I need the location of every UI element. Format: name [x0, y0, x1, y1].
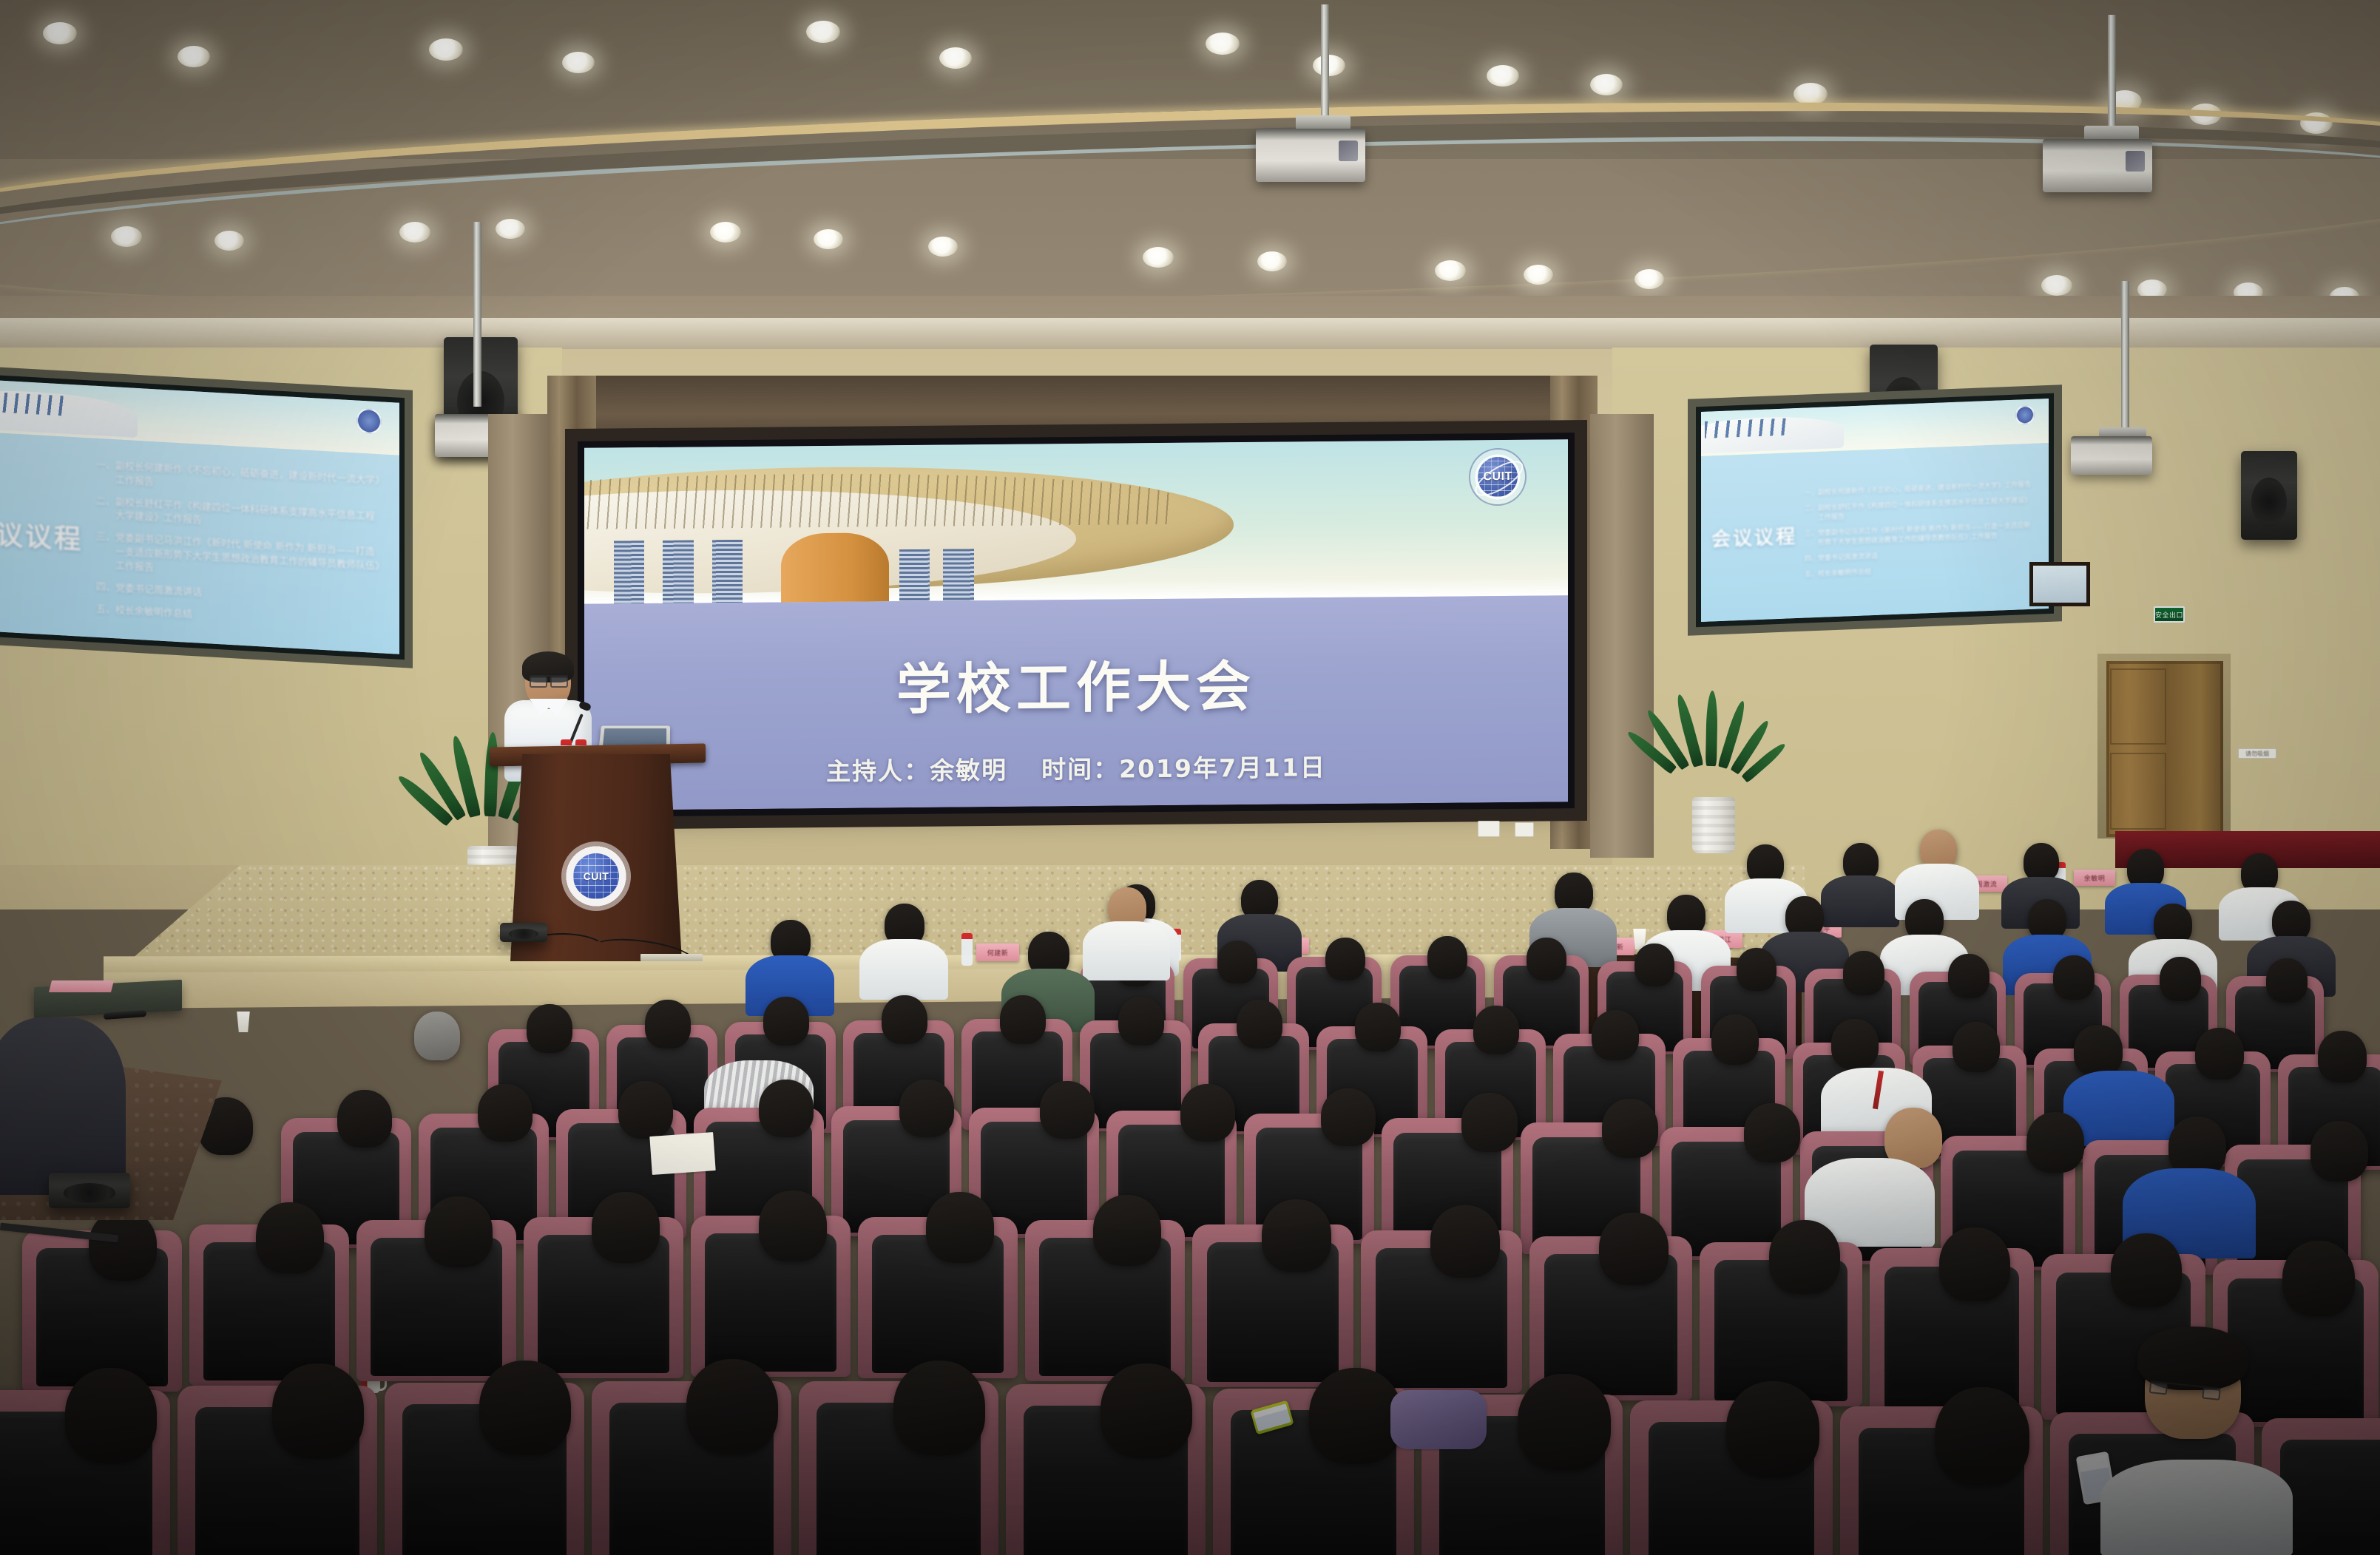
audience-head: [1843, 951, 1884, 995]
slide-date-label: 时间：2019年7月11日: [1041, 748, 1326, 785]
audience-head: [1769, 1220, 1840, 1294]
slide-building-cylinder: [781, 532, 889, 603]
wall-notice-plate: 请勿吸烟: [2238, 748, 2276, 759]
side-screen-left: 会议议程 一、 副校长何建新作《不忘初心，砥砺奋进，建设新时代一流大学》工作报告…: [0, 378, 399, 654]
floor-power-strip: [640, 954, 703, 961]
audience-head: [759, 1080, 814, 1137]
slide-building-window: [943, 549, 973, 600]
ceiling-downlight: [111, 226, 142, 247]
audience-head: [1948, 954, 1989, 998]
agenda-item-text: 副校长何建新作《不忘初心，砥砺奋进，建设新时代一流大学》工作报告: [1818, 481, 2034, 498]
agenda-item-number: 三、: [96, 531, 115, 574]
audience-head: [272, 1363, 364, 1458]
audience-head: [1309, 1368, 1402, 1464]
audience-head: [1592, 1010, 1639, 1060]
audience-head: [2024, 843, 2059, 881]
agenda-item-number: 二、: [96, 495, 115, 524]
agenda-item-number: 二、: [1805, 504, 1818, 524]
table-paper-card: [49, 980, 114, 992]
name-card-text: 何建新: [987, 948, 1009, 958]
ceiling-downlight: [928, 237, 958, 257]
audience-head: [1237, 1000, 1282, 1048]
audience-head: [1711, 1014, 1759, 1065]
cuit-logo-icon: CUIT: [1469, 447, 1527, 506]
audience-head: [414, 1012, 460, 1060]
projector-bracket: [2084, 126, 2139, 140]
audience-head: [1040, 1081, 1095, 1139]
ceiling-downlight: [1524, 265, 1553, 285]
ceiling-downlight: [806, 21, 840, 43]
audience-head: [1518, 1374, 1611, 1470]
name-card-text: 余敏明: [2084, 873, 2106, 883]
ceiling-downlight: [939, 47, 972, 69]
audience-head: [1180, 1084, 1235, 1142]
audience-head: [2310, 1121, 2368, 1182]
cuit-logo-icon: [356, 408, 382, 435]
audience-shoulders: [859, 939, 948, 1000]
ceiling-downlight: [1313, 55, 1345, 76]
wall-framed-picture: [2029, 562, 2090, 606]
audience-head: [686, 1359, 778, 1454]
audience-head: [1461, 1093, 1518, 1152]
wall-trim-band: [0, 318, 2380, 349]
agenda-item-text: 副校长舒红平作《构建四位一体科研体系支撑高水平信息工程大学建设》工作报告: [115, 496, 380, 539]
ceiling-downlight: [710, 222, 741, 243]
projector-mount-pole: [2121, 281, 2129, 429]
projector-lens: [1339, 140, 1358, 161]
ceiling-downlight: [43, 22, 77, 44]
audience-head: [1831, 1019, 1879, 1069]
side-slide-body: 会议议程 一、 副校长何建新作《不忘初心，砥砺奋进，建设新时代一流大学》工作报告…: [0, 431, 399, 654]
cuit-logo-icon: CUIT: [561, 841, 631, 911]
audience-head: [1093, 1195, 1161, 1266]
main-projection-screen: CUIT 学校工作大会 主持人：余敏明 时间：2019年7月11日: [584, 439, 1568, 810]
ceiling-downlight: [2041, 275, 2072, 296]
plant-pot-right: [1692, 797, 1735, 853]
slide-body: 学校工作大会 主持人：余敏明 时间：2019年7月11日: [584, 595, 1568, 810]
agenda-item: 四、 党委书记周激流讲话: [1805, 546, 2034, 565]
ceiling-downlight: [399, 222, 430, 243]
globe-icon: CUIT: [573, 853, 619, 899]
ceiling-downlight: [562, 52, 595, 73]
name-card-text: 周激流: [1976, 879, 1998, 889]
cuit-logo-icon: [2015, 405, 2035, 425]
agenda-item-text: 副校长何建新作《不忘初心，砥砺奋进，建设新时代一流大学》工作报告: [115, 460, 380, 503]
projector-bracket: [1296, 115, 1350, 130]
audience-head: [1321, 1088, 1376, 1146]
audience-head: [89, 1210, 157, 1281]
agenda-heading: 会议议程: [0, 511, 96, 558]
agenda-list: 一、 副校长何建新作《不忘初心，砥砺奋进，建设新时代一流大学》工作报告 二、 副…: [1805, 480, 2049, 580]
paper-cup: [235, 1012, 251, 1032]
wall-socket-plate: [1478, 821, 1500, 837]
slide-building-window: [899, 549, 930, 601]
ceiling-projector: [2071, 436, 2152, 475]
audience-head: [1527, 938, 1566, 980]
agenda-item-number: 一、: [1805, 489, 1818, 499]
auditorium-photo: 会议议程 一、 副校长何建新作《不忘初心，砥砺奋进，建设新时代一流大学》工作报告…: [0, 0, 2380, 1555]
slide-header-band: CUIT: [584, 439, 1568, 603]
audience-head: [1101, 1363, 1192, 1458]
ceiling-downlight: [1487, 65, 1519, 87]
audience-head: [893, 1361, 985, 1455]
audience-head: [592, 1192, 660, 1263]
slide-building-window: [614, 541, 644, 604]
agenda-item-text: 副校长舒红平作《构建四位一体科研体系支撑高水平信息工程大学建设》工作报告: [1818, 496, 2034, 524]
wall-notice-text: 请勿吸烟: [2245, 750, 2269, 758]
agenda-item-text: 校长余敏明作总结: [1818, 562, 2034, 580]
audience-head: [2111, 1233, 2182, 1307]
audience-head: [1430, 1205, 1500, 1278]
audience-head: [479, 1361, 571, 1455]
video-camera: [49, 1173, 130, 1208]
ceiling-downlight: [214, 231, 244, 251]
audience-head: [1953, 1022, 2000, 1072]
audience-head: [337, 1090, 392, 1148]
audience-head: [1744, 1103, 1800, 1162]
audience-head: [1737, 948, 1776, 991]
ceiling-downlight: [1794, 83, 1828, 105]
audience-head: [1939, 1227, 2010, 1301]
audience-head: [645, 1000, 691, 1048]
agenda-item: 三、 党委副书记马洪江作《新时代 新使命 新作为 新担当——打造一支适应新形势下…: [1805, 521, 2034, 549]
audience-head: [2053, 955, 2095, 1000]
slide-building-window: [712, 540, 743, 603]
audience-head: [1634, 943, 1674, 986]
ceiling-downlight: [814, 229, 843, 249]
slide-host-label: 主持人：余敏明: [826, 750, 1007, 787]
audience-head: [1262, 1199, 1331, 1272]
agenda-item: 一、 副校长何建新作《不忘初心，砥砺奋进，建设新时代一流大学》工作报告: [1805, 481, 2034, 499]
audience-head: [256, 1202, 324, 1273]
audience-head: [882, 995, 927, 1044]
audience-head: [1935, 1387, 2029, 1485]
side-screen-right: 会议议程 一、 副校长何建新作《不忘初心，砥砺奋进，建设新时代一流大学》工作报告…: [1701, 399, 2049, 622]
audience-head: [1602, 1099, 1658, 1158]
agenda-item-number: 五、: [96, 603, 115, 617]
projector-mount-pole: [1321, 4, 1329, 117]
agenda-item: 五、 校长余敏明作总结: [1805, 562, 2034, 580]
agenda-item-text: 党委副书记马洪江作《新时代 新使命 新作为 新担当——打造一支适应新形势下大学生…: [115, 532, 380, 589]
audience-head: [2318, 1031, 2367, 1083]
agenda-item-number: 四、: [1805, 555, 1818, 565]
camera-operator: [0, 1017, 126, 1195]
agenda-list: 一、 副校长何建新作《不忘初心，砥砺奋进，建设新时代一流大学》工作报告 二、 副…: [96, 459, 399, 634]
audience-head: [2266, 958, 2308, 1003]
audience-head: [65, 1368, 157, 1463]
handout-paper: [649, 1132, 715, 1175]
audience-head: [1473, 1006, 1519, 1054]
projector-lens: [2126, 151, 2145, 172]
agenda-item: 二、 副校长舒红平作《构建四位一体科研体系支撑高水平信息工程大学建设》工作报告: [1805, 496, 2034, 524]
wall-speaker-cabinet: [2241, 451, 2297, 540]
agenda-item-text: 党委副书记马洪江作《新时代 新使命 新作为 新担当——打造一支适应新形势下大学生…: [1818, 521, 2034, 549]
stage-stone-pier-right: [1590, 414, 1654, 858]
slide-building-window: [663, 541, 693, 603]
audience-shoulders: [2100, 1460, 2293, 1555]
audience-head: [763, 997, 809, 1046]
audience-head: [2074, 1025, 2123, 1077]
audience-head: [1427, 936, 1467, 979]
palm-frond: [1705, 691, 1718, 766]
wall-socket-plate: [1515, 822, 1534, 837]
agenda-item: 一、 副校长何建新作《不忘初心，砥砺奋进，建设新时代一流大学》工作报告: [96, 459, 380, 503]
audience-head: [478, 1084, 533, 1142]
audience-shoulders: [1821, 875, 1899, 927]
agenda-item-number: 四、: [96, 581, 115, 596]
side-slide-body: 会议议程 一、 副校长何建新作《不忘初心，砥砺奋进，建设新时代一流大学》工作报告…: [1701, 443, 2049, 622]
ceiling-downlight: [178, 46, 210, 67]
audience-head: [527, 1004, 572, 1053]
audience-head: [1000, 995, 1046, 1044]
projector-mount-pole: [2108, 15, 2116, 127]
audience-head: [2026, 1112, 2084, 1173]
audience-head: [618, 1081, 673, 1139]
stage-monitor-speaker: [500, 923, 547, 942]
slide-subtitle-row: 主持人：余敏明 时间：2019年7月11日: [826, 748, 1326, 787]
agenda-item: 二、 副校长舒红平作《构建四位一体科研体系支撑高水平信息工程大学建设》工作报告: [96, 495, 380, 538]
audience-shoulders: [1083, 921, 1170, 980]
ceiling-downlight: [1143, 247, 1174, 268]
audience-head: [1325, 938, 1365, 980]
agenda-item-number: 三、: [1805, 529, 1818, 549]
handbag: [1390, 1390, 1487, 1449]
side-slide-building-fins: [1705, 419, 1788, 438]
delegate-name-card: 何建新: [976, 943, 1019, 961]
ceiling-downlight: [1206, 33, 1240, 55]
audience-head: [899, 1080, 954, 1137]
projector-mount-pole: [473, 222, 481, 407]
ceiling-downlight: [1435, 260, 1466, 281]
audience-head: [1599, 1213, 1669, 1285]
audience-head: [759, 1190, 827, 1261]
ceiling-downlight: [496, 219, 525, 239]
ceiling-downlight: [1257, 251, 1287, 271]
agenda-heading: 会议议程: [1701, 521, 1805, 552]
water-bottle: [961, 933, 973, 966]
audience-head: [1355, 1003, 1401, 1051]
audience-head: [2195, 1028, 2244, 1080]
audience-head: [2282, 1241, 2355, 1316]
agenda-item-text: 党委书记周激流讲话: [1818, 546, 2034, 564]
audience-head: [2160, 957, 2201, 1001]
audience-head: [1217, 941, 1257, 983]
exit-door[interactable]: [2106, 661, 2223, 837]
agenda-item: 三、 党委副书记马洪江作《新时代 新使命 新作为 新担当——打造一支适应新形势下…: [96, 531, 380, 589]
agenda-item-number: 一、: [96, 459, 115, 488]
exit-sign-text: 安全出口: [2155, 610, 2183, 620]
audience-head: [926, 1192, 994, 1263]
exit-sign: 安全出口: [2154, 606, 2185, 623]
delegate-name-card: 余敏明: [2074, 870, 2115, 886]
ceiling-downlight: [1590, 74, 1623, 95]
ceiling-downlight: [429, 38, 463, 61]
audience-head: [425, 1196, 493, 1267]
slide-title: 学校工作大会: [896, 642, 1256, 724]
audience-head: [1118, 997, 1164, 1046]
ceiling-downlight: [1634, 269, 1664, 289]
cuit-logo-text: CUIT: [584, 870, 609, 882]
agenda-item-number: 五、: [1805, 570, 1818, 580]
cuit-logo-text: CUIT: [1483, 470, 1512, 483]
glasses-icon: [530, 675, 568, 684]
audience-head: [1726, 1381, 1819, 1477]
